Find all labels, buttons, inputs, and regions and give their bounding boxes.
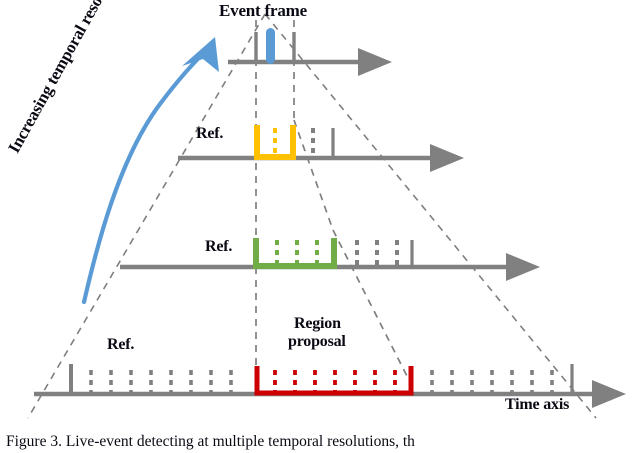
figure-container: Event frame Increasing temporal resoluti… bbox=[0, 0, 640, 453]
timeline-arrowhead-2 bbox=[430, 144, 464, 172]
region-proposal-label-line2: proposal bbox=[288, 333, 346, 351]
triangle-guide-lines bbox=[28, 14, 596, 418]
guide-right-vertical-seg2 bbox=[294, 120, 333, 230]
ref-label-level3: Ref. bbox=[205, 238, 232, 256]
region-proposal-label-line1: Region bbox=[294, 315, 341, 333]
timeline-arrowhead-4 bbox=[592, 380, 626, 408]
ref-label-level2: Ref. bbox=[196, 125, 223, 143]
timeline-arrowhead-3 bbox=[506, 253, 540, 281]
time-axis-label: Time axis bbox=[505, 396, 569, 414]
timeline-arrowhead-1 bbox=[358, 48, 392, 76]
dashed-tick-group-right bbox=[432, 370, 552, 393]
figure-caption: Figure 3. Live-event detecting at multip… bbox=[6, 433, 636, 451]
event-frame-bar bbox=[266, 28, 275, 64]
triangle-right-edge bbox=[265, 14, 596, 418]
ref-label-level4: Ref. bbox=[107, 336, 134, 354]
arrow-curve bbox=[84, 48, 209, 302]
arrow-head-icon bbox=[182, 37, 219, 72]
guide-right-vertical-seg3 bbox=[333, 230, 412, 386]
increasing-resolution-arrow bbox=[84, 37, 219, 302]
row-level-3 bbox=[120, 238, 540, 281]
diagram-svg bbox=[0, 0, 640, 453]
dashed-tick-group-left bbox=[91, 370, 231, 393]
dashed-tick-group-region bbox=[275, 370, 395, 392]
event-frame-label: Event frame bbox=[219, 1, 307, 21]
